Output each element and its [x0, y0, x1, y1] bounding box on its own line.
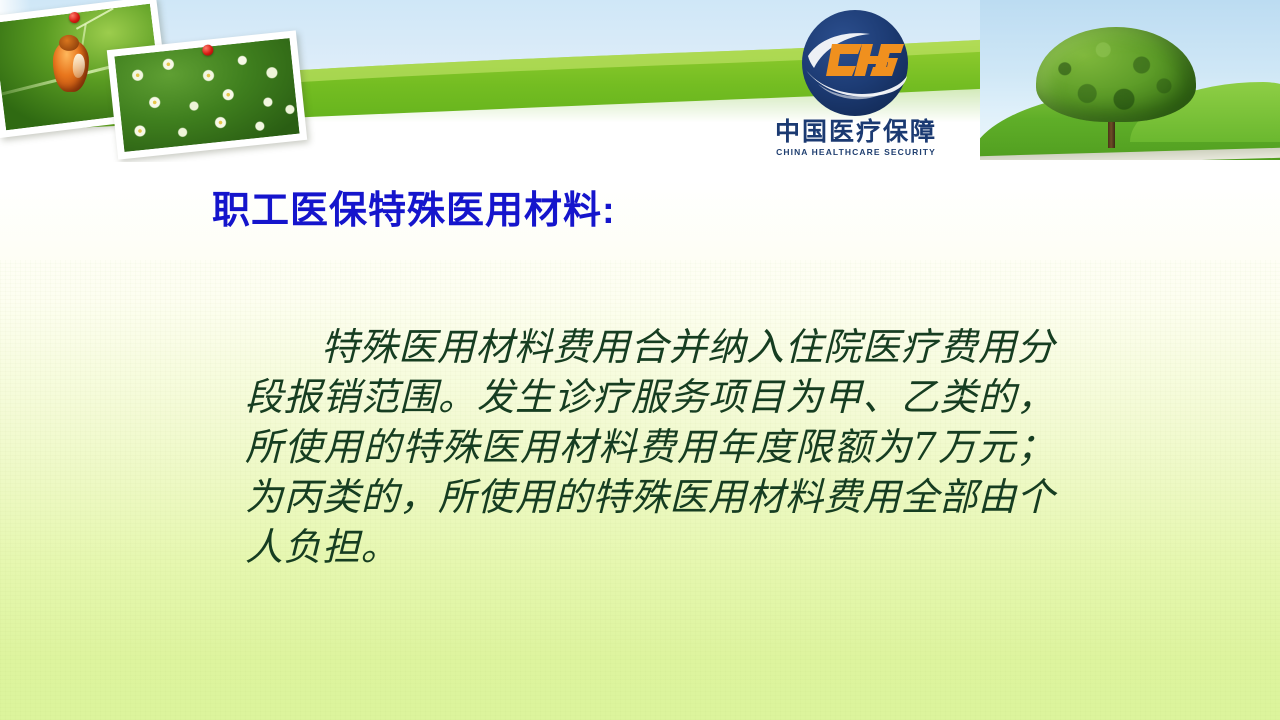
- header-banner: 中国医疗保障 CHINA HEALTHCARE SECURITY: [0, 0, 1280, 162]
- chs-logo: 中国医疗保障 CHINA HEALTHCARE SECURITY: [772, 8, 940, 158]
- insect-head: [59, 34, 79, 50]
- presentation-slide: 中国医疗保障 CHINA HEALTHCARE SECURITY 职工医保特殊医…: [0, 0, 1280, 720]
- white-daisies-photo: [107, 30, 307, 159]
- chs-emblem-icon: [800, 8, 910, 118]
- slide-title: 职工医保特殊医用材料:: [212, 188, 616, 236]
- logo-name-cn: 中国医疗保障: [772, 120, 940, 145]
- slide-body-text: 特殊医用材料费用合并纳入住院医疗费用分段报销范围。发生诊疗服务项目为甲、乙类的，…: [245, 322, 1055, 572]
- tree-on-hill-photo: [980, 0, 1280, 160]
- logo-name-en: CHINA HEALTHCARE SECURITY: [772, 147, 940, 157]
